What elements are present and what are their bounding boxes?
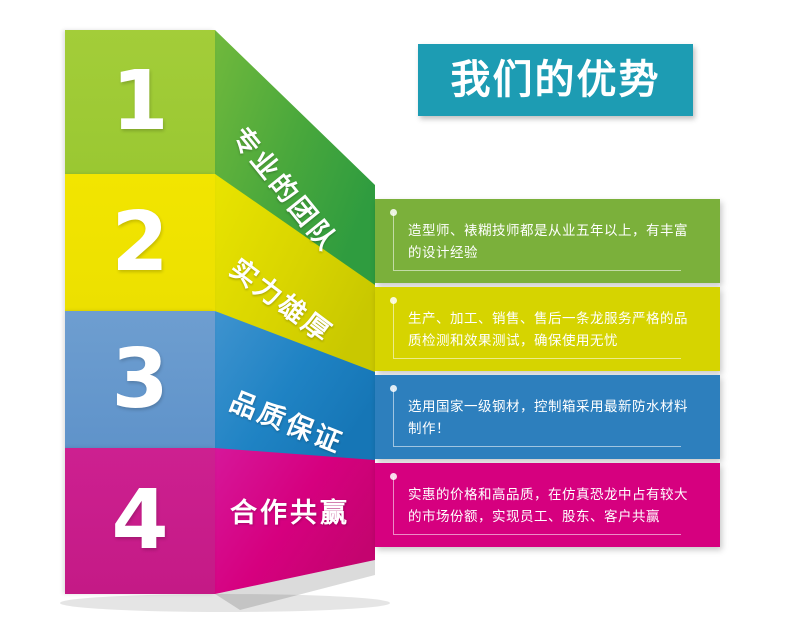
bullet-dot-icon — [390, 209, 397, 216]
panel-inner-1: 造型师、裱糊技师都是从业五年以上，有丰富的设计经验 — [393, 213, 706, 271]
description-panel-1[interactable]: 造型师、裱糊技师都是从业五年以上，有丰富的设计经验 — [375, 199, 720, 283]
number-block-3[interactable]: 3 — [65, 311, 215, 448]
description-text-3: 选用国家一级钢材，控制箱采用最新防水材料制作！ — [394, 396, 706, 441]
ground-shadow — [60, 594, 390, 612]
number-block-4[interactable]: 4 — [65, 448, 215, 594]
panel-inner-3: 选用国家一级钢材，控制箱采用最新防水材料制作！ — [393, 389, 706, 447]
number-label-1: 1 — [111, 61, 168, 143]
description-text-2: 生产、加工、销售、售后一条龙服务严格的品质检测和效果测试，确保使用无忧 — [394, 308, 706, 353]
bullet-dot-icon — [390, 473, 397, 480]
description-panel-3[interactable]: 选用国家一级钢材，控制箱采用最新防水材料制作！ — [375, 375, 720, 459]
bullet-dot-icon — [390, 385, 397, 392]
description-panel-4[interactable]: 实惠的价格和高品质，在仿真恐龙中占有较大的市场份额，实现员工、股东、客户共赢 — [375, 463, 720, 547]
description-text-1: 造型师、裱糊技师都是从业五年以上，有丰富的设计经验 — [394, 220, 706, 265]
bullet-dot-icon — [390, 297, 397, 304]
number-label-4: 4 — [111, 480, 168, 562]
number-label-2: 2 — [111, 202, 168, 284]
number-label-3: 3 — [111, 339, 168, 421]
panel-inner-4: 实惠的价格和高品质，在仿真恐龙中占有较大的市场份额，实现员工、股东、客户共赢 — [393, 477, 706, 535]
band-caption-4: 合作共赢 — [230, 500, 350, 527]
description-panel-2[interactable]: 生产、加工、销售、售后一条龙服务严格的品质检测和效果测试，确保使用无忧 — [375, 287, 720, 371]
number-block-1[interactable]: 1 — [65, 30, 215, 174]
panel-inner-2: 生产、加工、销售、售后一条龙服务严格的品质检测和效果测试，确保使用无忧 — [393, 301, 706, 359]
description-text-4: 实惠的价格和高品质，在仿真恐龙中占有较大的市场份额，实现员工、股东、客户共赢 — [394, 484, 706, 529]
number-block-2[interactable]: 2 — [65, 174, 215, 311]
infographic-canvas: 我们的优势 — [0, 0, 800, 622]
